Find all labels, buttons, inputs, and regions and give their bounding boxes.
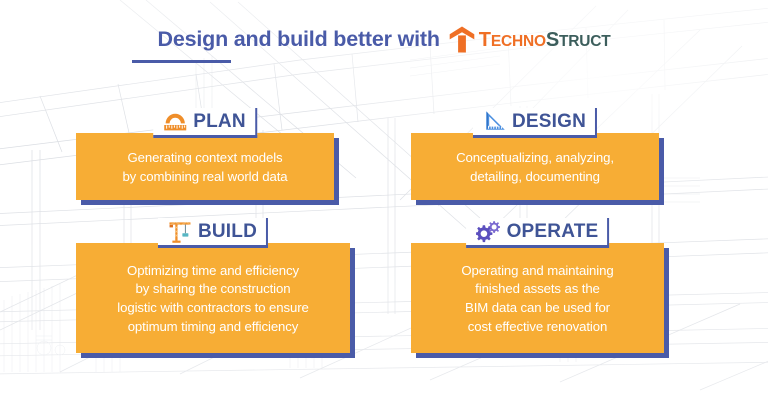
logo-struct-rest: TRUCT: [559, 33, 611, 50]
card-label: OPERATE: [507, 222, 599, 241]
card-description: Operating and maintaining finished asset…: [461, 262, 613, 337]
card-body: Operating and maintaining finished asset…: [411, 243, 664, 353]
logo-word-techno: TECHNO: [479, 30, 546, 50]
card-label: BUILD: [198, 222, 257, 241]
logo-techno-initial: T: [479, 29, 491, 51]
page-title: Design and build better with: [158, 29, 440, 51]
card-body: Conceptualizing, analyzing, detailing, d…: [411, 133, 659, 200]
header-row: Design and build better with TECHNOSTRUC…: [158, 26, 611, 53]
lifecycle-card-grid: Generating context models by combining r…: [0, 0, 768, 402]
gears-icon: [476, 220, 501, 243]
card-badge-plan[interactable]: PLAN: [153, 108, 257, 138]
card-label: PLAN: [193, 112, 246, 131]
card-badge-build[interactable]: BUILD: [158, 218, 268, 248]
card-badge-design[interactable]: DESIGN: [473, 108, 597, 138]
set-square-ruler-icon: [483, 110, 506, 133]
card-description: Generating context models by combining r…: [122, 149, 287, 186]
card-description: Conceptualizing, analyzing, detailing, d…: [456, 149, 614, 186]
title-underline: [132, 60, 231, 63]
card-label: DESIGN: [512, 112, 586, 131]
card-description: Optimizing time and efficiency by sharin…: [117, 262, 308, 337]
page-header: Design and build better with TECHNOSTRUC…: [0, 26, 768, 53]
card-design[interactable]: Conceptualizing, analyzing, detailing, d…: [411, 133, 659, 200]
card-badge-operate[interactable]: OPERATE: [466, 218, 610, 248]
technostruct-wordmark: TECHNOSTRUCT: [479, 30, 611, 50]
card-body: Generating context models by combining r…: [76, 133, 334, 200]
protractor-icon: [163, 111, 187, 132]
card-body: Optimizing time and efficiency by sharin…: [76, 243, 350, 353]
tower-crane-icon: [168, 220, 192, 244]
logo-word-struct: STRUCT: [546, 30, 611, 50]
card-build[interactable]: Optimizing time and efficiency by sharin…: [76, 243, 350, 353]
logo-struct-initial: S: [546, 29, 559, 51]
card-plan[interactable]: Generating context models by combining r…: [76, 133, 334, 200]
technostruct-t-logo-icon: [449, 26, 475, 53]
card-operate[interactable]: Operating and maintaining finished asset…: [411, 243, 664, 353]
logo-techno-rest: ECHNO: [491, 33, 546, 50]
technostruct-logo: TECHNOSTRUCT: [449, 26, 611, 53]
